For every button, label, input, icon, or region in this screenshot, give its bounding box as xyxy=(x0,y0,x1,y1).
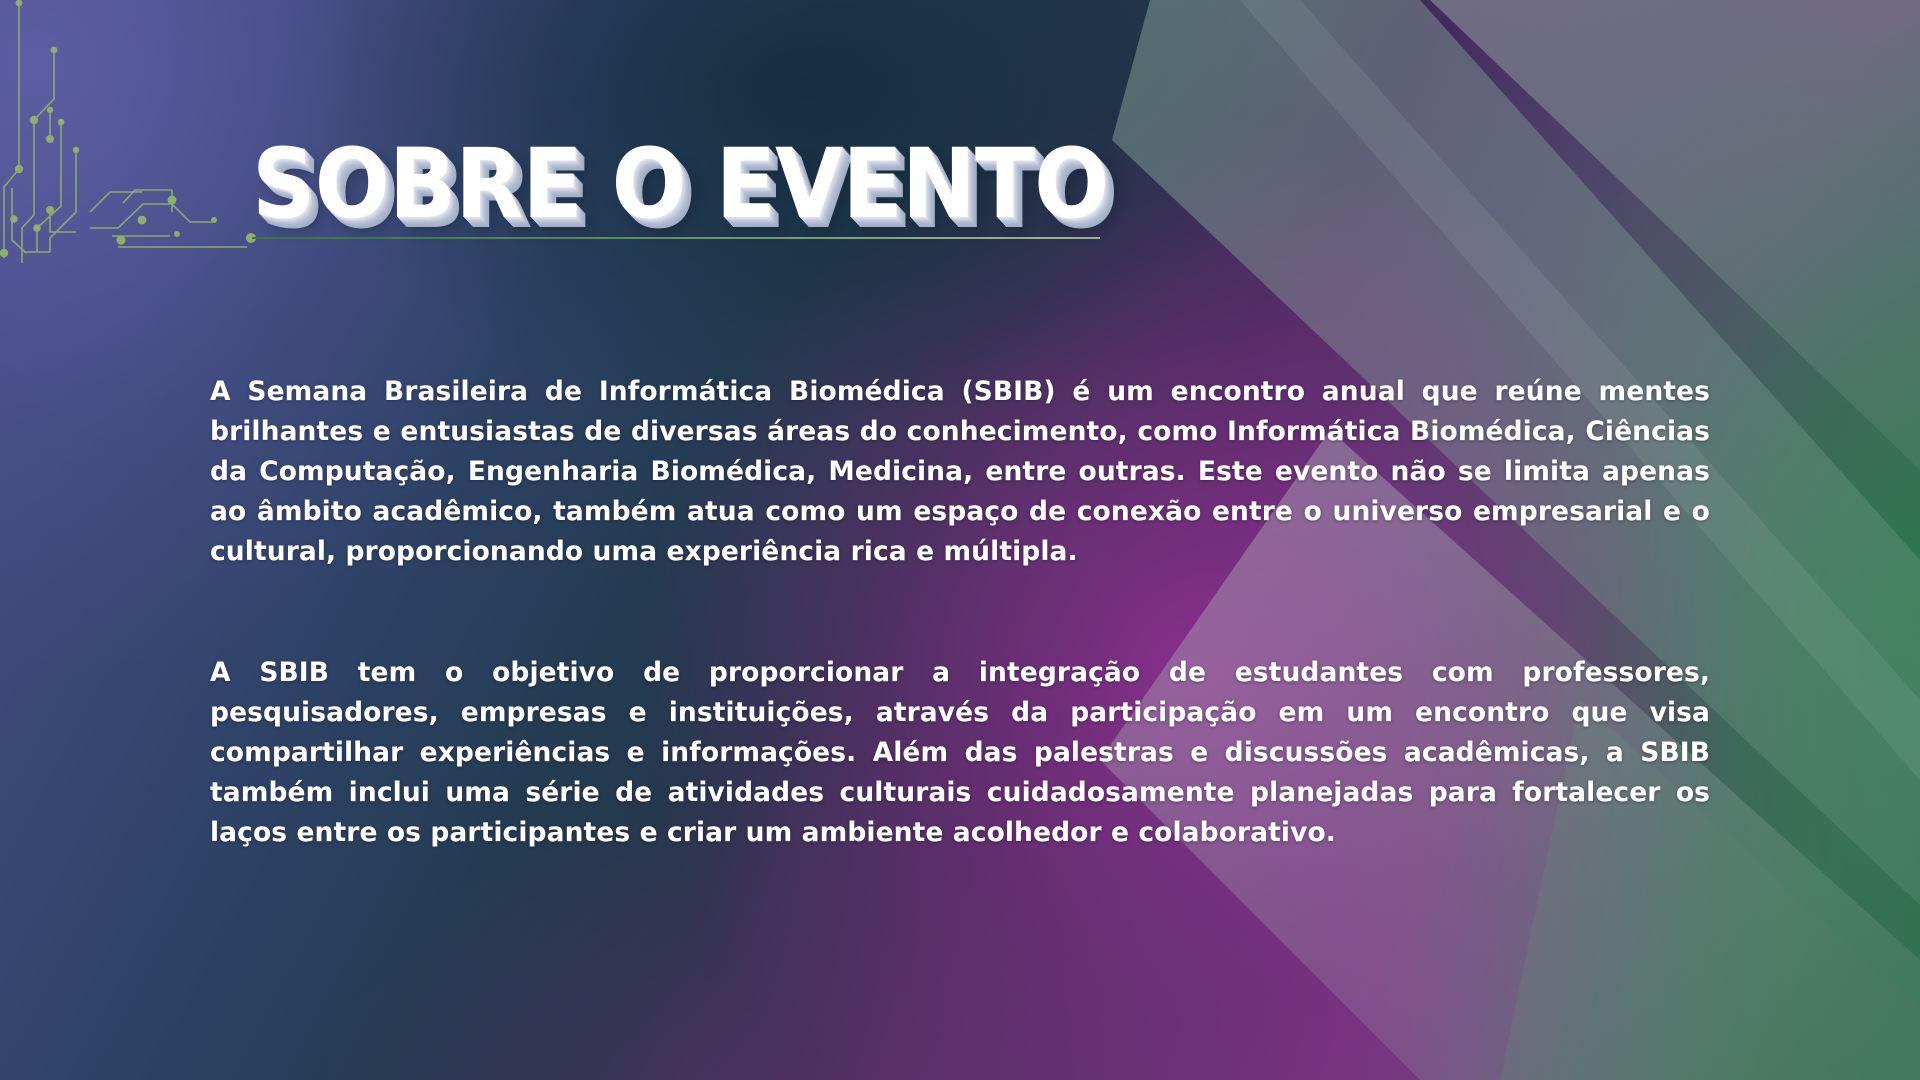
slide-canvas: SOBRE O EVENTO A Semana Brasileira de In… xyxy=(0,0,1920,1080)
paragraph-2: A SBIB tem o objetivo de proporcionar a … xyxy=(210,653,1710,853)
paragraph-1: A Semana Brasileira de Informática Biomé… xyxy=(210,372,1710,572)
page-title-text: SOBRE O EVENTO xyxy=(252,132,1108,236)
body-content: A Semana Brasileira de Informática Biomé… xyxy=(210,372,1710,853)
page-title: SOBRE O EVENTO xyxy=(252,132,1183,250)
